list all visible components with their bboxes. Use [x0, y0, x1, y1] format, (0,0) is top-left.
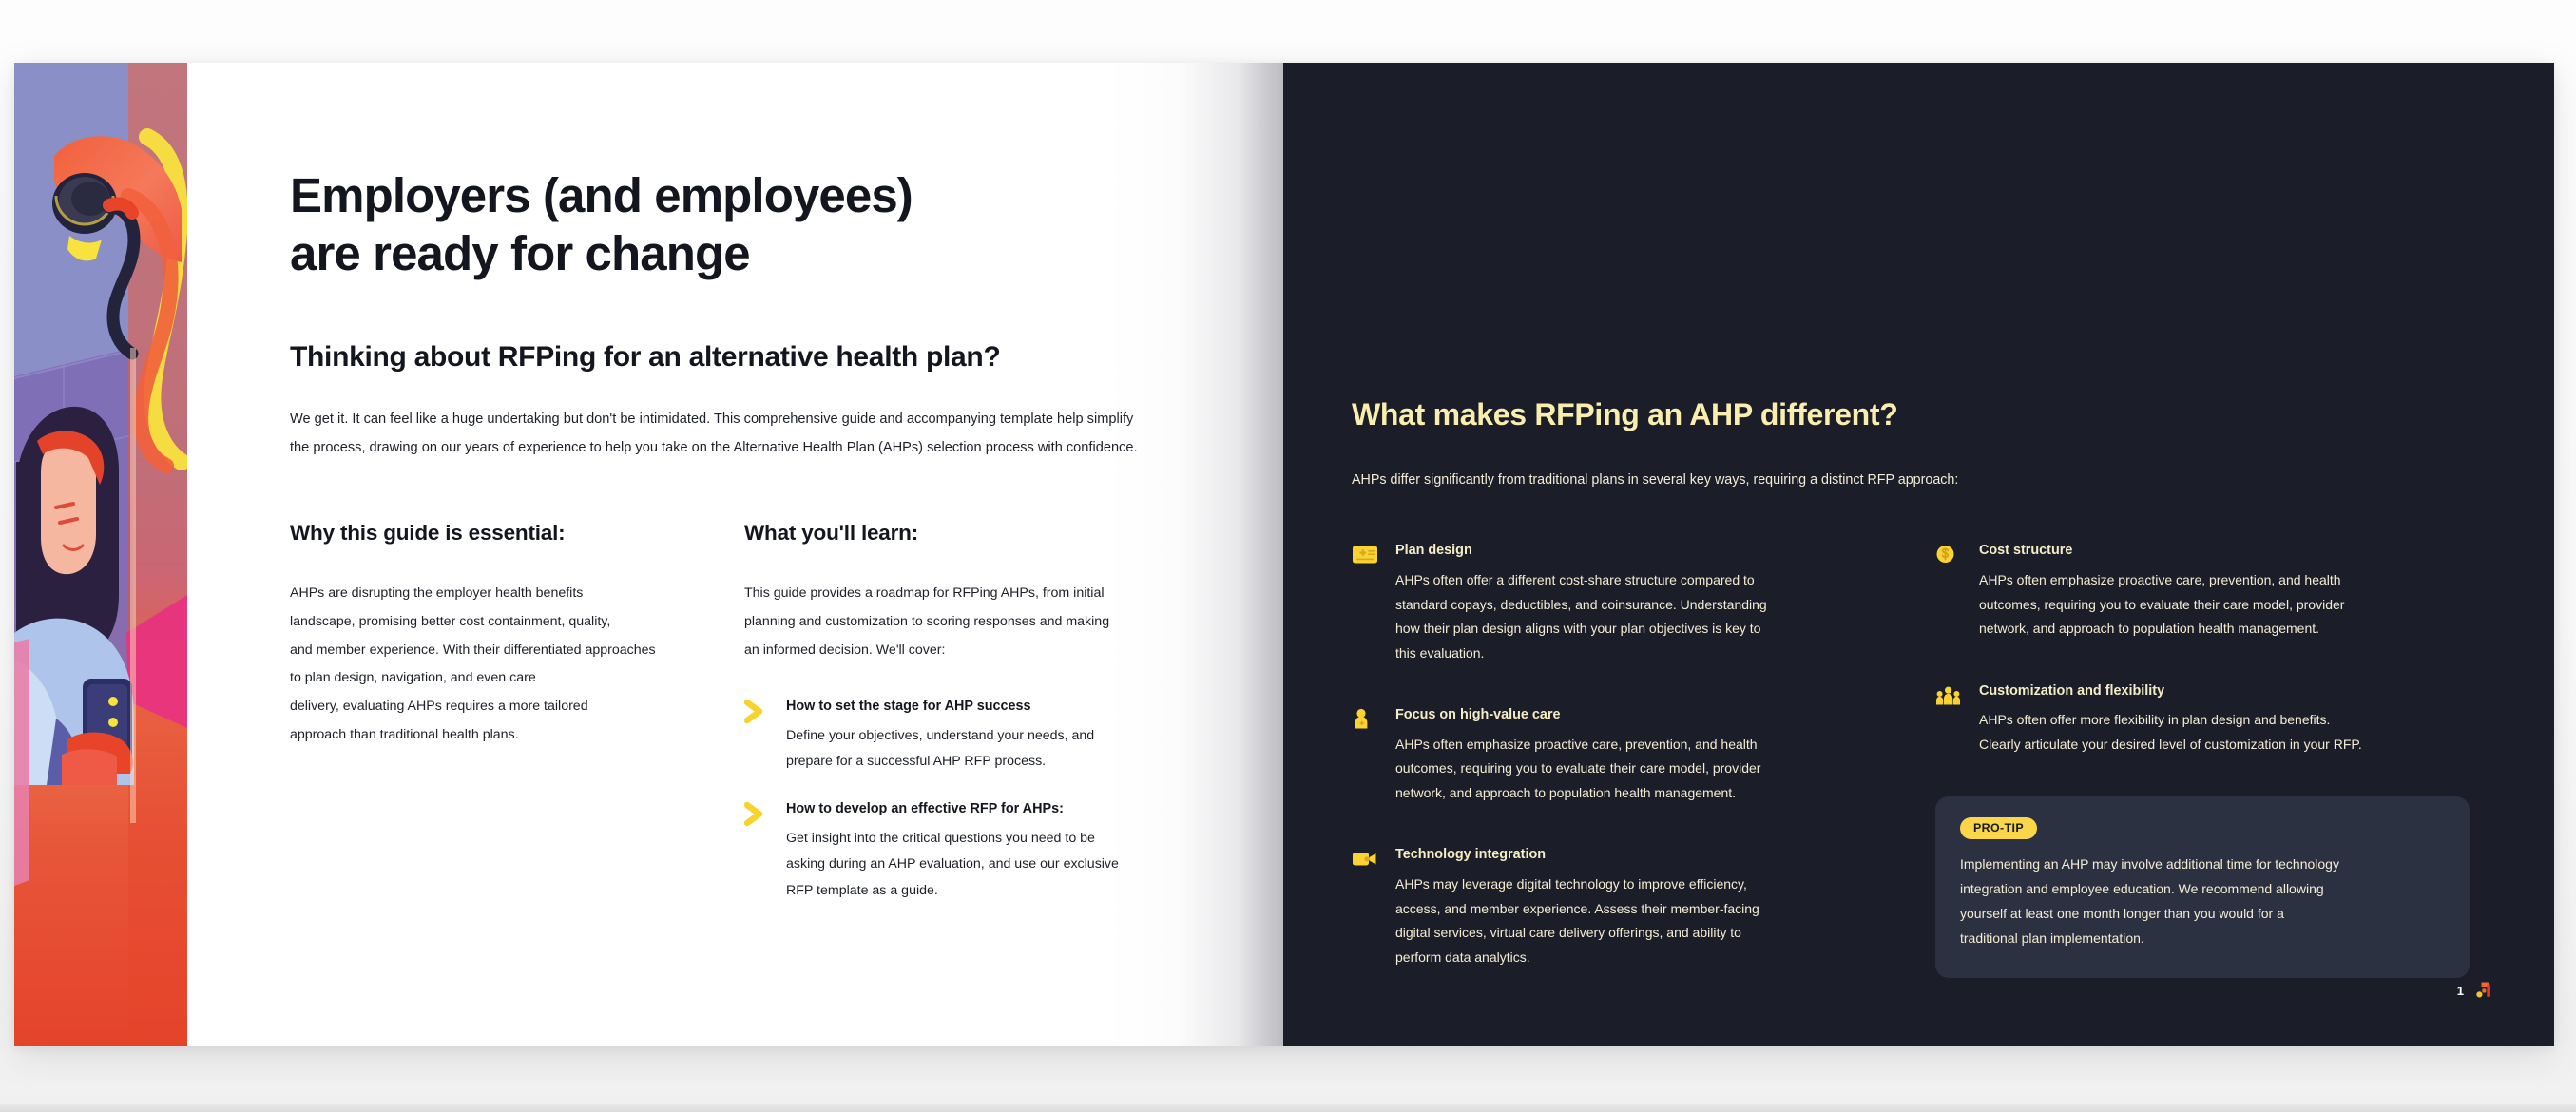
- page-subtitle: Thinking about RFPing for an alternative…: [290, 341, 1283, 374]
- feature-title: Plan design: [1395, 541, 1767, 561]
- feature-title: Technology integration: [1395, 845, 1759, 865]
- feature-description: AHPs often offer a different cost-share …: [1395, 568, 1767, 665]
- section-heading: What makes RFPing an AHP different?: [1352, 397, 2480, 432]
- status-badge: PRO-TIP: [1960, 817, 2037, 839]
- document-spread: Employers (and employees) are ready for …: [14, 63, 2554, 1046]
- window-bottom-edge: [0, 1104, 2576, 1112]
- pro-tip-callout: PRO-TIP Implementing an AHP may involve …: [1935, 796, 2470, 978]
- group-of-people-icon: [1935, 681, 1962, 757]
- pro-tip-text: Implementing an AHP may involve addition…: [1960, 853, 2445, 951]
- feature-cost-structure: Cost structure AHPs often emphasize proa…: [1935, 541, 2464, 641]
- brand-logo-mark: [2474, 980, 2495, 1001]
- intro-paragraph: We get it. It can feel like a huge under…: [290, 406, 1150, 462]
- left-page-content: Employers (and employees) are ready for …: [187, 63, 1283, 1046]
- list-item-description: Define your objectives, understand your …: [786, 723, 1094, 776]
- list-item-title: How to set the stage for AHP success: [786, 697, 1094, 718]
- column-body-text: This guide provides a roadmap for RFPing…: [744, 580, 1199, 664]
- woman-with-phone-and-stethoscope-illustration: [14, 63, 187, 1046]
- feature-title: Cost structure: [1979, 541, 2344, 561]
- feature-title: Focus on high-value care: [1395, 705, 1760, 725]
- column-heading: Why this guide is essential:: [290, 521, 744, 546]
- screenshot-canvas: Employers (and employees) are ready for …: [0, 0, 2576, 1112]
- chevron-right-icon: [744, 799, 765, 903]
- features-column-left: Plan design AHPs often offer a different…: [1352, 541, 1880, 1009]
- person-health-icon: [1352, 705, 1378, 805]
- list-item: How to set the stage for AHP success Def…: [744, 697, 1199, 775]
- feature-description: AHPs often emphasize proactive care, pre…: [1979, 568, 2344, 641]
- feature-technology-integration: Technology integration AHPs may leverage…: [1352, 845, 1880, 969]
- features-grid: Plan design AHPs often offer a different…: [1352, 541, 2480, 1009]
- column-what-youll-learn: What you'll learn: This guide provides a…: [744, 521, 1199, 904]
- features-column-right: Cost structure AHPs often emphasize proa…: [1935, 541, 2464, 1009]
- right-page-content: What makes RFPing an AHP different? AHPs…: [1283, 63, 2554, 1009]
- two-column-section: Why this guide is essential: AHPs are di…: [290, 521, 1283, 904]
- feature-description: AHPs may leverage digital technology to …: [1395, 872, 1759, 969]
- right-page: What makes RFPing an AHP different? AHPs…: [1283, 63, 2554, 1046]
- feature-high-value-care: Focus on high-value care AHPs often emph…: [1352, 705, 1880, 805]
- chevron-right-icon: [744, 697, 765, 775]
- dollar-coin-icon: [1935, 541, 1962, 641]
- list-item-description: Get insight into the critical questions …: [786, 826, 1119, 904]
- feature-plan-design: Plan design AHPs often offer a different…: [1352, 541, 1880, 665]
- column-body-text: AHPs are disrupting the employer health …: [290, 580, 744, 749]
- page-footer: 1: [2457, 980, 2495, 1001]
- insurance-card-icon: [1352, 541, 1378, 665]
- video-camera-icon: [1352, 845, 1378, 969]
- list-item: How to develop an effective RFP for AHPs…: [744, 799, 1199, 903]
- list-item-title: How to develop an effective RFP for AHPs…: [786, 799, 1119, 820]
- column-heading: What you'll learn:: [744, 521, 1199, 546]
- section-intro: AHPs differ significantly from tradition…: [1352, 469, 2480, 491]
- feature-description: AHPs often emphasize proactive care, pre…: [1395, 733, 1760, 805]
- page-number: 1: [2457, 984, 2464, 998]
- column-why-guide-essential: Why this guide is essential: AHPs are di…: [290, 521, 744, 904]
- left-page: Employers (and employees) are ready for …: [14, 63, 1283, 1046]
- feature-customization-flexibility: Customization and flexibility AHPs often…: [1935, 681, 2464, 757]
- feature-description: AHPs often offer more flexibility in pla…: [1979, 708, 2362, 757]
- learn-bullet-list: How to set the stage for AHP success Def…: [744, 697, 1199, 904]
- feature-title: Customization and flexibility: [1979, 681, 2362, 701]
- page-title: Employers (and employees) are ready for …: [290, 167, 1283, 282]
